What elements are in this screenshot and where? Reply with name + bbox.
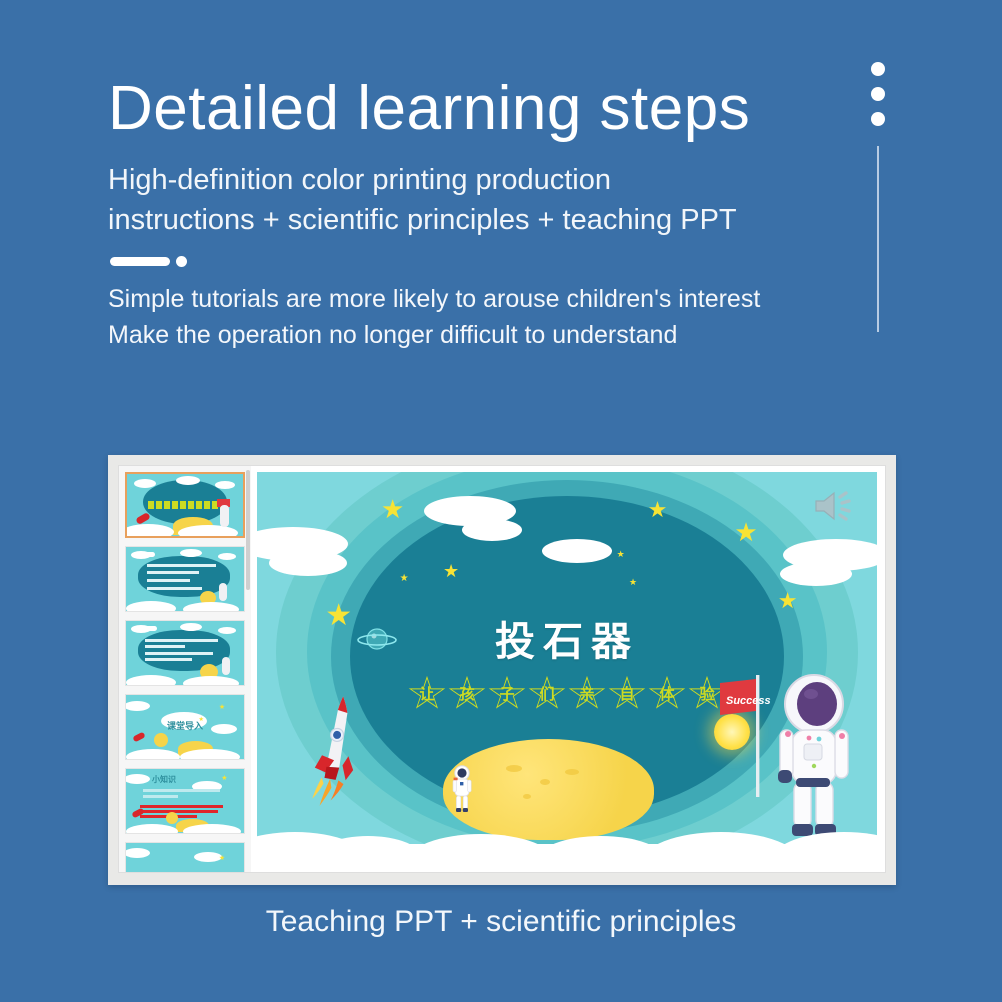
star-char: 孩 [448,676,486,712]
tagline-line-2: Make the operation no longer difficult t… [108,317,848,353]
decorative-dots [871,62,891,137]
tagline-line-1: Simple tutorials are more likely to arou… [108,281,848,317]
star-1: ★ [381,496,404,522]
star-5: ★ [400,574,409,584]
star-4: ★ [443,562,459,580]
divider-bar [110,257,170,266]
page-tagline: Simple tutorials are more likely to arou… [108,281,848,353]
decorative-vertical-line [877,146,879,332]
star-char: 体 [648,676,686,712]
decorative-dot-1 [871,62,885,76]
star-char: 们 [528,676,566,712]
cloud-bank-bottom [257,790,877,864]
flag-text-label: Success [726,695,771,707]
star-char-label: 孩 [459,683,474,704]
slide-thumbnail-label: 小知识 [152,774,176,785]
cloud-center [542,539,612,563]
page-title: Detailed learning steps [108,74,848,144]
slide-thumbnail-3-bullets[interactable] [125,620,245,686]
decorative-dot-3 [871,112,885,126]
cloud-bank-base [257,844,877,864]
slide-thumbnail-pane[interactable]: ★ ★ 课堂导入 ★ 小知识 [119,466,251,872]
slide-thumbnail-label: 课堂导入 [126,719,244,732]
star-char: 子 [488,676,526,712]
headline-block: Detailed learning steps High-definition … [108,74,848,353]
subtitle-line-2: instructions + scientific principles + t… [108,200,848,240]
thumbnail-scrollbar[interactable] [246,470,250,590]
slide-thumbnail-5-tips[interactable]: ★ 小知识 [125,768,245,834]
star-char-label: 自 [619,683,634,704]
slide-editor-pane[interactable]: ★ ★ ★ ★ ★ ★ ★ ★ ★ 投石器 [251,466,885,872]
current-slide[interactable]: ★ ★ ★ ★ ★ ★ ★ ★ ★ 投石器 [257,472,877,864]
slide-thumbnail-1-cover[interactable] [125,472,245,538]
slide-thumbnail-6-materials[interactable]: ★ [125,842,245,872]
bottom-caption: Teaching PPT + scientific principles [0,905,1002,939]
slide-thumbnail-2-bullets[interactable] [125,546,245,612]
divider [110,256,848,267]
star-3: ★ [734,519,757,545]
star-char-label: 让 [419,683,434,704]
slide-title: 投石器 [257,609,877,667]
star-2: ★ [648,499,668,521]
subtitle-line-1: High-definition color printing productio… [108,160,848,200]
star-9: ★ [629,578,637,587]
divider-dot [176,256,187,267]
star-char: 亲 [568,676,606,712]
star-char-label: 亲 [579,683,594,704]
speaker-icon[interactable] [812,488,858,524]
star-char-label: 子 [499,683,514,704]
ppt-window-inner: ★ ★ 课堂导入 ★ 小知识 [118,465,886,873]
star-char-label: 验 [699,683,714,704]
star-char: 让 [408,676,446,712]
decorative-dot-2 [871,87,885,101]
star-char-label: 体 [659,683,674,704]
star-8: ★ [617,550,625,559]
ppt-application-window: ★ ★ 课堂导入 ★ 小知识 [108,455,896,885]
page-subtitle: High-definition color printing productio… [108,160,848,240]
star-char: 自 [608,676,646,712]
cloud-top-mid2 [462,519,522,541]
star-char-label: 们 [539,683,554,704]
slide-thumbnail-4-intro[interactable]: ★ ★ 课堂导入 [125,694,245,760]
